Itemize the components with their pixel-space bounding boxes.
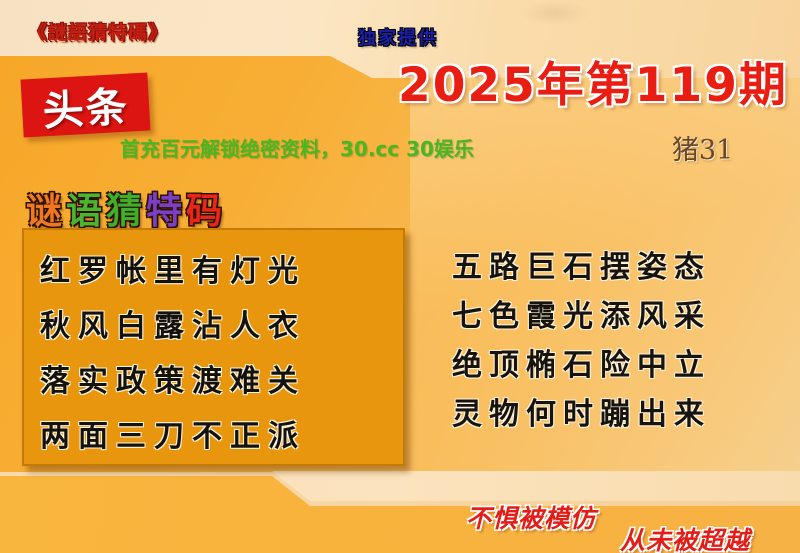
section-title-char-2: 猜 — [106, 182, 146, 234]
riddle-line: 红罗帐里有灯光 — [40, 244, 387, 299]
lottery-poster: 《謎語猜特碼》 独家提供 2025年第119期 头条 首充百元解锁绝密资料，30… — [0, 0, 800, 553]
section-title: 谜语猜特码 — [26, 182, 226, 234]
slogan-left: 不惧被模仿 — [466, 499, 596, 535]
traditional-title: 《謎語猜特碼》 — [28, 18, 168, 45]
slogan-right: 从未被超越 — [620, 521, 750, 553]
verse-column: 五路巨石摆姿态 七色霞光添风采 绝顶椭石险中立 灵物何时蹦出来 — [452, 243, 792, 439]
section-title-char-1: 语 — [66, 182, 106, 234]
promo-text: 首充百元解锁绝密资料，30.cc 30娱乐 — [120, 133, 474, 162]
section-title-char-3: 特 — [146, 182, 186, 234]
riddle-line: 两面三刀不正派 — [40, 409, 387, 464]
headline-badge-label: 头条 — [41, 73, 130, 138]
verse-line: 绝顶椭石险中立 — [452, 341, 792, 390]
zodiac-number: 猪31 — [672, 128, 733, 167]
verse-line: 灵物何时蹦出来 — [452, 390, 792, 439]
riddle-line: 落实政策渡难关 — [40, 354, 387, 409]
verse-line: 七色霞光添风采 — [452, 292, 792, 341]
verse-line: 五路巨石摆姿态 — [452, 243, 792, 292]
riddle-box: 红罗帐里有灯光 秋风白露沾人衣 落实政策渡难关 两面三刀不正派 — [22, 228, 405, 466]
section-title-char-4: 码 — [186, 182, 226, 234]
headline-badge: 头条 — [20, 73, 150, 138]
issue-number-title: 2025年第119期 — [398, 46, 788, 115]
section-title-char-0: 谜 — [26, 182, 66, 234]
background-watermark — [520, 0, 590, 26]
riddle-line: 秋风白露沾人衣 — [40, 299, 387, 354]
